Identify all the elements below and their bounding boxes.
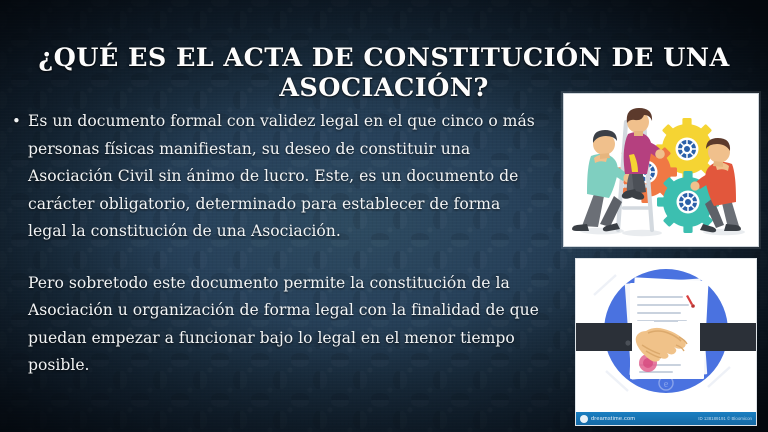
handshake-svg: e <box>576 259 756 412</box>
paragraph-1-text: Es un documento formal con validez legal… <box>28 108 542 246</box>
body-text-column: • Es un documento formal con validez leg… <box>0 108 556 380</box>
shadow-ladder <box>622 230 662 236</box>
dreamstime-site-label: dreamstime.com <box>591 416 635 422</box>
sleeve-left <box>576 323 634 351</box>
paragraph-2-text: Pero sobretodo este documento permite la… <box>28 270 542 380</box>
dreamstime-watermark-bar: dreamstime.com ID 138189191 © Bloomicon <box>576 412 756 425</box>
dreamstime-logo-icon <box>580 415 588 423</box>
cuff-button-left <box>625 340 630 345</box>
bullet-marker: • <box>12 108 28 246</box>
paragraph-2: • Pero sobretodo este documento permite … <box>0 270 556 380</box>
sleeve-right <box>698 323 756 351</box>
teamwork-gears-illustration <box>563 93 759 247</box>
handshake-contract-illustration: e dreamstime.com ID 138189191 © Bloomico… <box>575 258 757 426</box>
dreamstime-brand: dreamstime.com <box>580 415 635 423</box>
slide: ¿QUÉ ES EL ACTA DE CONSTITUCIÓN DE UNA A… <box>0 0 768 432</box>
dreamstime-image-id: ID 138189191 © Bloomicon <box>698 416 752 421</box>
teamwork-gears-svg <box>564 94 758 246</box>
paragraph-1: • Es un documento formal con validez leg… <box>0 108 556 246</box>
svg-text:e: e <box>664 379 669 390</box>
